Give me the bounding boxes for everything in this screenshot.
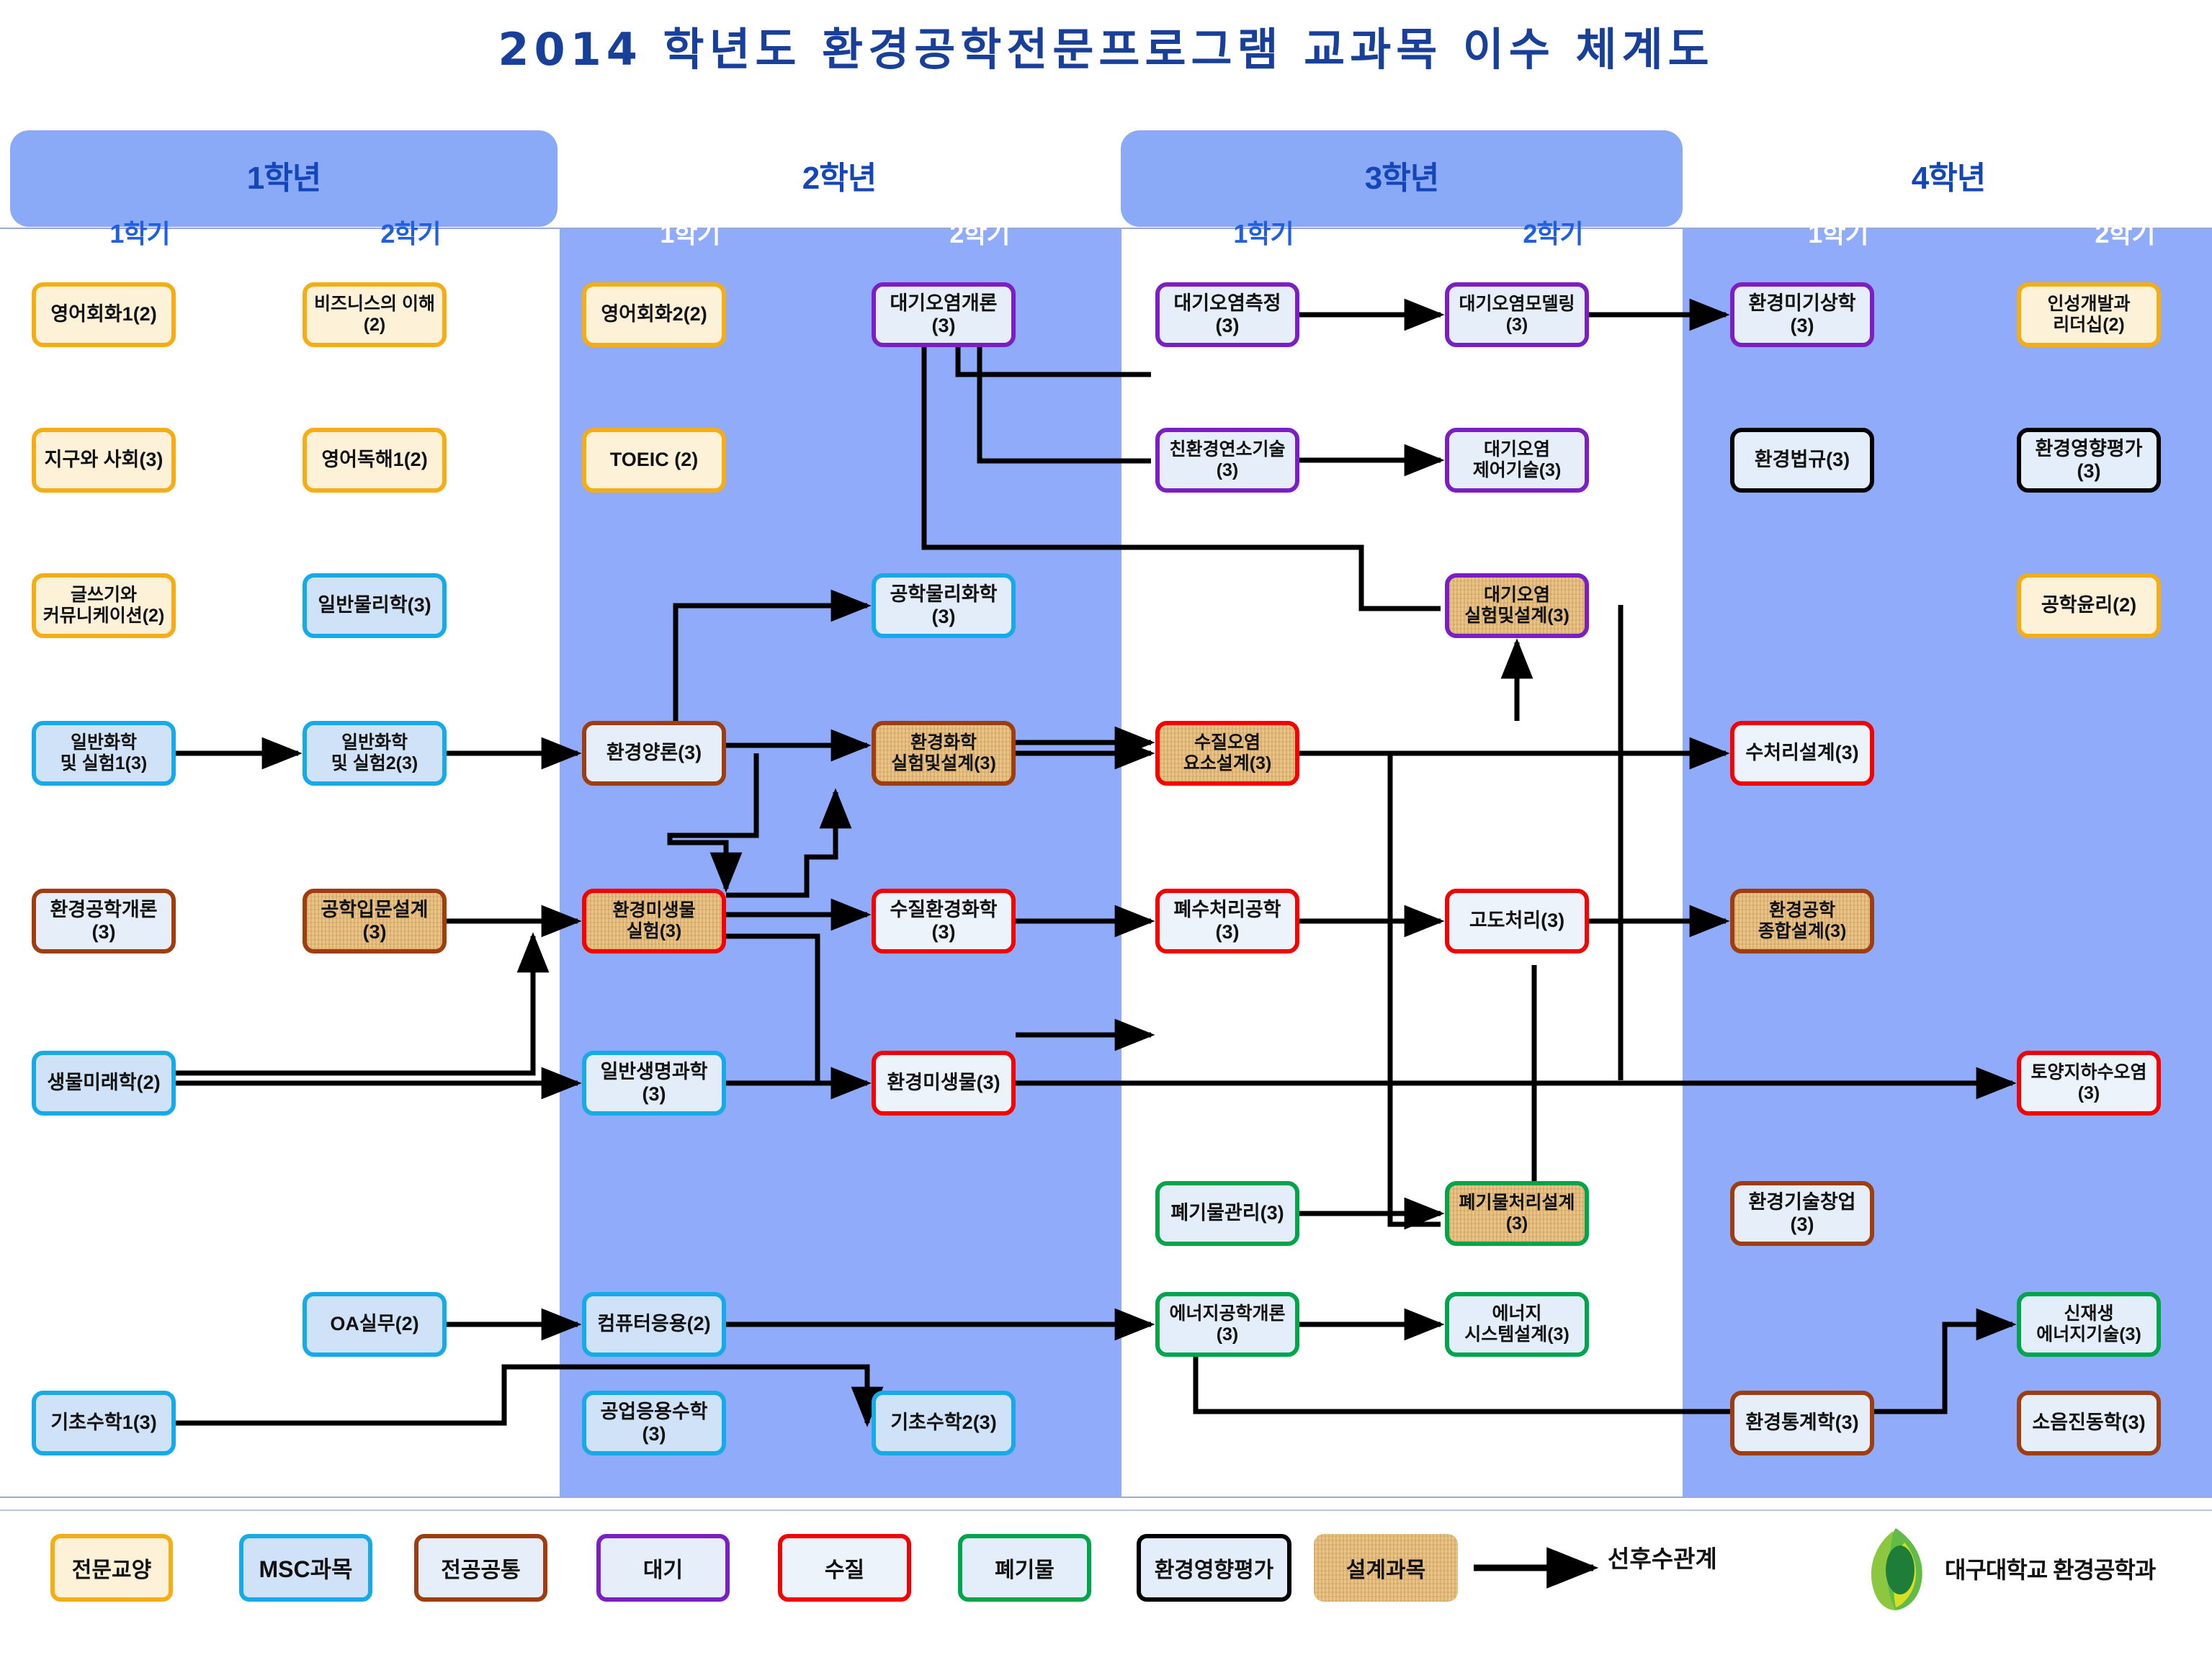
page-title: 2014 학년도 환경공학전문프로그램 교과목 이수 체계도 (0, 13, 2212, 78)
legend-relation-label: 선후수관계 (1608, 1540, 1717, 1574)
semester-label-y2s1: 1학기 (582, 209, 798, 259)
legend-item: 대기 (596, 1534, 730, 1602)
course-box[interactable]: 소음진동학(3) (2017, 1391, 2161, 1455)
semester-label-y2s2: 2학기 (872, 209, 1088, 259)
course-box[interactable]: 일반물리학(3) (303, 573, 447, 638)
course-box[interactable]: 수질환경화학(3) (872, 889, 1016, 954)
legend-item: 전문교양 (50, 1534, 173, 1602)
course-box[interactable]: 일반화학 및 실험1(3) (32, 721, 176, 786)
course-box[interactable]: 환경공학 종합설계(3) (1730, 889, 1874, 954)
course-box[interactable]: 환경기술창업(3) (1730, 1181, 1874, 1246)
course-box[interactable]: 수질오염 요소설계(3) (1155, 721, 1299, 786)
course-box[interactable]: 친환경연소기술 (3) (1155, 428, 1299, 493)
semester-label-y3s1: 1학기 (1155, 209, 1371, 259)
semester-label-y3s2: 2학기 (1445, 209, 1661, 259)
course-box[interactable]: 생물미래학(2) (32, 1051, 176, 1116)
legend-item: 전공공통 (414, 1534, 547, 1602)
course-box[interactable]: 환경양론(3) (582, 721, 726, 786)
course-box[interactable]: 영어회화2(2) (582, 282, 726, 347)
legend-item: 수질 (778, 1534, 911, 1602)
course-box[interactable]: 비즈니스의 이해 (2) (303, 282, 447, 347)
course-box[interactable]: 폐수처리공학(3) (1155, 889, 1299, 954)
course-box[interactable]: 환경법규(3) (1730, 428, 1874, 493)
course-box[interactable]: 토양지하수오염 (3) (2017, 1051, 2161, 1116)
course-box[interactable]: 에너지공학개론 (3) (1155, 1292, 1299, 1357)
course-box[interactable]: 글쓰기와 커뮤니케이션(2) (32, 573, 176, 638)
course-box[interactable]: 에너지 시스템설계(3) (1445, 1292, 1589, 1357)
semester-label-y1s2: 2학기 (303, 209, 519, 259)
semester-label-y1s1: 1학기 (32, 209, 248, 259)
course-box[interactable]: 공학윤리(2) (2017, 573, 2161, 638)
course-box[interactable]: TOEIC (2) (582, 428, 726, 493)
course-box[interactable]: 고도처리(3) (1445, 889, 1589, 954)
course-box[interactable]: 환경영향평가(3) (2017, 428, 2161, 493)
course-box[interactable]: 기초수학2(3) (872, 1391, 1016, 1455)
course-box[interactable]: 환경미생물(3) (872, 1051, 1016, 1116)
course-box[interactable]: 대기오염개론(3) (872, 282, 1016, 347)
course-box[interactable]: 컴퓨터응용(2) (582, 1292, 726, 1357)
course-box[interactable]: 대기오염측정(3) (1155, 282, 1299, 347)
legend-item: 환경영향평가 (1137, 1534, 1291, 1602)
course-box[interactable]: 환경통계학(3) (1730, 1391, 1874, 1455)
course-box[interactable]: 대기오염모델링 (3) (1445, 282, 1589, 347)
legend-item: MSC과목 (239, 1534, 372, 1602)
course-box[interactable]: 수처리설계(3) (1730, 721, 1874, 786)
course-box[interactable]: 공학물리화학(3) (872, 573, 1016, 638)
course-box[interactable]: 공학입문설계(3) (303, 889, 447, 954)
legend-item: 폐기물 (958, 1534, 1091, 1602)
semester-label-y4s1: 1학기 (1730, 209, 1946, 259)
course-box[interactable]: 일반화학 및 실험2(3) (303, 721, 447, 786)
course-box[interactable]: 환경미기상학(3) (1730, 282, 1874, 347)
course-box[interactable]: 환경미생물 실험(3) (582, 889, 726, 954)
course-box[interactable]: 환경공학개론(3) (32, 889, 176, 954)
legend-item: 설계과목 (1314, 1534, 1458, 1602)
course-box[interactable]: 지구와 사회(3) (32, 428, 176, 493)
course-box[interactable]: 인성개발과 리더십(2) (2017, 282, 2161, 347)
course-box[interactable]: 폐기물처리설계 (3) (1445, 1181, 1589, 1246)
course-box[interactable]: 기초수학1(3) (32, 1391, 176, 1455)
course-box[interactable]: 신재생 에너지기술(3) (2017, 1292, 2161, 1357)
department-name: 대구대학교 환경공학과 (1945, 1552, 2155, 1585)
university-logo-icon (1851, 1525, 1938, 1612)
course-box[interactable]: 일반생명과학(3) (582, 1051, 726, 1116)
course-box[interactable]: 폐기물관리(3) (1155, 1181, 1299, 1246)
course-box[interactable]: 영어회화1(2) (32, 282, 176, 347)
course-box[interactable]: 영어독해1(2) (303, 428, 447, 493)
course-box[interactable]: 공업응용수학(3) (582, 1391, 726, 1455)
semester-label-y4s2: 2학기 (2017, 209, 2212, 259)
course-box[interactable]: 환경화학 실험및설계(3) (872, 721, 1016, 786)
course-box[interactable]: OA실무(2) (303, 1292, 447, 1357)
content-divider (0, 1497, 2212, 1498)
curriculum-flowchart: 2014 학년도 환경공학전문프로그램 교과목 이수 체계도 1학년 2학년 3… (0, 0, 2212, 1659)
course-box[interactable]: 대기오염 제어기술(3) (1445, 428, 1589, 493)
course-box[interactable]: 대기오염 실험및설계(3) (1445, 573, 1589, 638)
